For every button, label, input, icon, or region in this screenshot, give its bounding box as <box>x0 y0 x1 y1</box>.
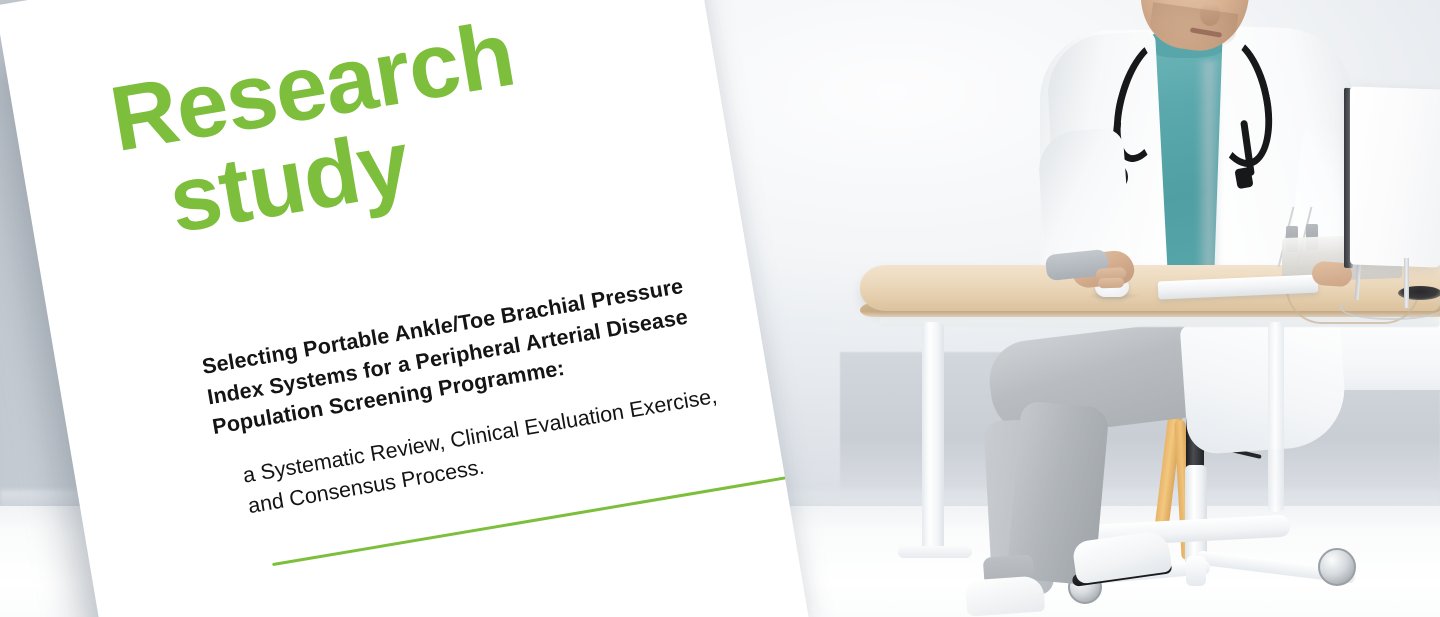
desk-leg-left <box>922 322 944 554</box>
report-cover-content: Research study Selecting Portable Ankle/… <box>0 0 809 617</box>
doctor-finger-middle <box>1098 278 1124 289</box>
doctor-shoe-far <box>965 575 1045 616</box>
screenshot-canvas: Research study Selecting Portable Ankle/… <box>0 0 1440 617</box>
stethoscope-connector <box>1234 167 1253 189</box>
report-hero-title: Research study <box>105 0 687 254</box>
desk-foot-left <box>898 546 972 558</box>
report-cover-card: Research study Selecting Portable Ankle/… <box>0 0 809 617</box>
lab-coat-tail <box>1180 315 1349 456</box>
doctor-nose <box>1200 4 1220 26</box>
monitor-base <box>1340 296 1440 320</box>
monitor-rear-panel <box>1350 86 1440 267</box>
desk-leg-right <box>1268 322 1284 512</box>
chair-caster-right <box>1318 548 1356 586</box>
chair-base-hub <box>1186 556 1206 586</box>
